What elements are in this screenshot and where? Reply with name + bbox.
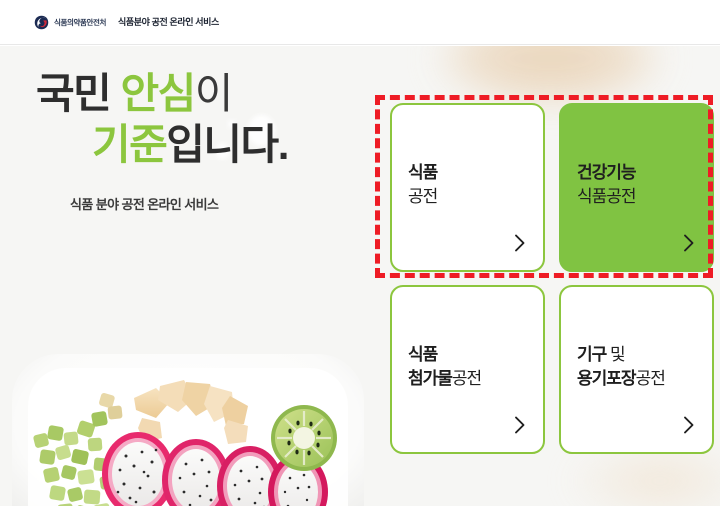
card-food-additives-code-title: 식품 첨가물공전 — [408, 343, 527, 389]
hero-line1-accent: 안심 — [120, 70, 194, 117]
card-food-code[interactable]: 식품 공전 — [390, 103, 545, 272]
hero-line2-accent: 기준 — [92, 121, 166, 168]
background-blur-top-right — [430, 46, 670, 111]
chevron-right-icon — [513, 234, 526, 252]
card-apparatus-title-bold2: 용기포장 — [577, 369, 636, 388]
gongjeon-card-grid: 식품 공전 건강기능 식품공전 식품 첨가물공전 — [390, 103, 700, 498]
hero-headline-line1: 국민 안심이 — [36, 68, 356, 119]
card-additives-title-normal: 공전 — [452, 369, 481, 388]
brand-group[interactable]: 식품의약품안전처 식품분야 공전 온라인 서비스 — [34, 15, 219, 30]
card-apparatus-container-packaging-code[interactable]: 기구 및 용기포장공전 — [559, 285, 714, 454]
hero-subtitle: 식품 분야 공전 온라인 서비스 — [70, 194, 356, 213]
card-hff-title-bold: 건강기능 — [577, 163, 636, 182]
chevron-right-icon — [682, 416, 695, 434]
hero-stage: 국민 안심이 기준입니다. 식품 분야 공전 온라인 서비스 식품 공전 건강기… — [0, 46, 720, 506]
card-apparatus-title-bold: 기구 — [577, 345, 606, 364]
card-additives-title-bold: 식품 — [408, 345, 437, 364]
card-apparatus-title-normal: 공전 — [636, 369, 665, 388]
hero-copy: 국민 안심이 기준입니다. 식품 분야 공전 온라인 서비스 — [36, 68, 356, 213]
fruit-plate-photo — [0, 346, 384, 506]
site-header: 식품의약품안전처 식품분야 공전 온라인 서비스 — [0, 0, 720, 45]
ministry-name: 식품의약품안전처 — [54, 18, 106, 27]
card-food-code-title-normal: 공전 — [408, 187, 437, 206]
chevron-right-icon — [513, 416, 526, 434]
hero-line1-part2: 이 — [195, 70, 232, 117]
card-health-functional-food-code-title: 건강기능 식품공전 — [577, 161, 696, 207]
service-name: 식품분야 공전 온라인 서비스 — [118, 17, 219, 27]
card-additives-title-bold2: 첨가물 — [408, 369, 452, 388]
card-health-functional-food-code[interactable]: 건강기능 식품공전 — [559, 103, 714, 272]
card-food-code-title: 식품 공전 — [408, 161, 527, 207]
card-hff-title-normal: 식품공전 — [577, 187, 636, 206]
korea-government-taegeuk-emblem-icon — [34, 15, 49, 30]
card-food-code-title-bold: 식품 — [408, 163, 437, 182]
hero-line1-part1: 국민 — [36, 70, 120, 117]
hero-headline-line2: 기준입니다. — [36, 119, 356, 170]
card-apparatus-code-title: 기구 및 용기포장공전 — [577, 343, 696, 389]
card-apparatus-title-normal0: 및 — [606, 345, 624, 364]
chevron-right-icon — [682, 234, 695, 252]
card-food-additives-code[interactable]: 식품 첨가물공전 — [390, 285, 545, 454]
hero-line2-part2: 입니다. — [166, 121, 288, 168]
